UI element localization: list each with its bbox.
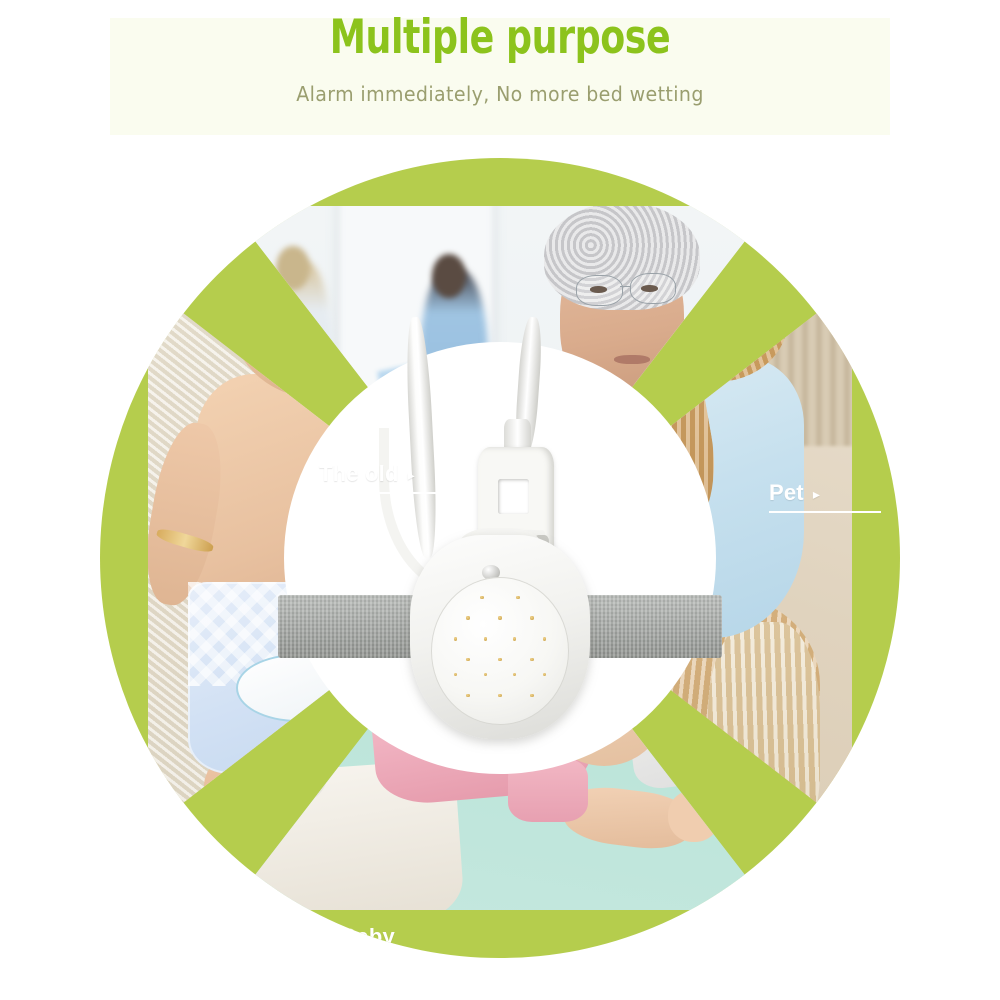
segment-label-kids-text: Kids (851, 933, 899, 958)
speaker-hole (484, 673, 487, 676)
speaker-hole (530, 658, 533, 661)
segment-label-pet[interactable]: Pet ▸ (769, 480, 881, 513)
eyeglasses-bridge (620, 286, 631, 297)
segment-label-the-old[interactable]: The old ▸ (319, 461, 437, 494)
speaker-hole (513, 637, 516, 640)
baby-foot (190, 778, 282, 866)
segment-label-baby-text: Baby (340, 924, 395, 950)
speaker-hole (466, 658, 469, 661)
page-title: Multiple purpose (70, 10, 930, 65)
child-right-hand (668, 790, 720, 842)
speaker-hole (530, 616, 533, 619)
baby-left-eye (265, 286, 291, 305)
speaker-hole (543, 673, 546, 676)
background-nurse-two-head (432, 254, 466, 298)
speaker-hole (530, 694, 533, 697)
speaker-hole (513, 673, 516, 676)
speaker-hole (498, 616, 501, 619)
segment-label-the-old-text: The old (319, 461, 399, 487)
segment-label-baby[interactable]: ◂ Baby (277, 924, 395, 957)
chevron-left-icon: ◂ (324, 931, 331, 945)
speaker-hole (466, 694, 469, 697)
segment-underline (319, 492, 437, 494)
bedwetting-alarm-product (276, 326, 724, 790)
belt-strap-right (569, 595, 721, 658)
chevron-right-icon: ▸ (813, 487, 820, 501)
segment-label-kids[interactable]: ◂ Kids (795, 933, 899, 958)
segment-label-pet-text: Pet (769, 480, 804, 506)
speaker-hole (454, 673, 457, 676)
speaker-hole (516, 596, 519, 599)
speaker-hole (498, 658, 501, 661)
background-nurse-one-head (276, 246, 310, 290)
speaker-hole (480, 596, 483, 599)
segment-underline (277, 955, 395, 957)
segment-underline (769, 511, 881, 513)
speaker-hole (484, 637, 487, 640)
dog-rear-leg (708, 622, 820, 862)
belt-strap-left (278, 595, 430, 658)
chevron-right-icon: ▸ (408, 468, 415, 482)
speaker-hole (466, 616, 469, 619)
speaker-hole (498, 694, 501, 697)
speaker-hole (454, 637, 457, 640)
speaker-hole (543, 637, 546, 640)
sensor-clip-window (498, 479, 529, 514)
usage-scenario-wheel: The old ▸ Pet ▸ ◂ Baby ◂ Kids (100, 158, 900, 958)
page-subtitle: Alarm immediately, No more bed wetting (25, 82, 975, 106)
chevron-left-icon: ◂ (834, 940, 841, 954)
alarm-speaker-grille (431, 577, 570, 725)
